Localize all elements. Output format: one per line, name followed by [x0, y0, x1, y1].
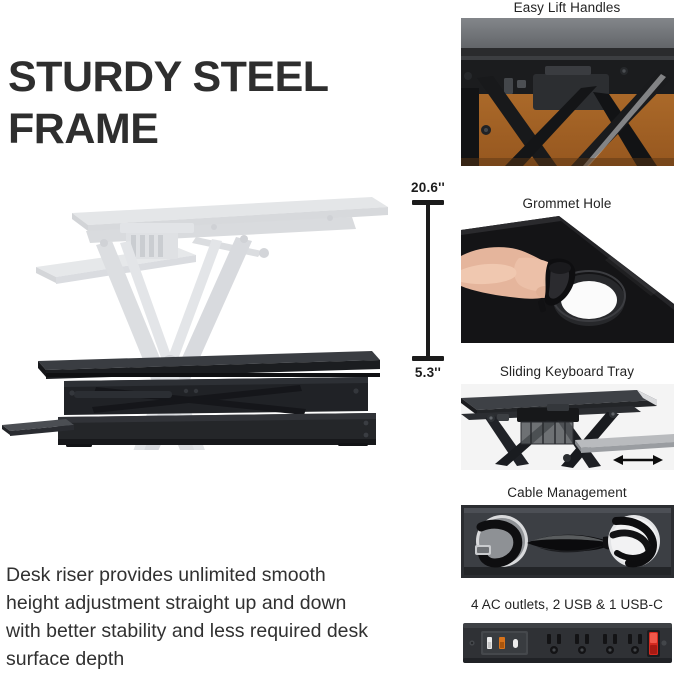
panel-caption-power-outlets: 4 AC outlets, 2 USB & 1 USB-C — [455, 597, 679, 613]
sliding-keyboard-tray-photo — [461, 384, 674, 470]
panel-caption-easy-lift-handles: Easy Lift Handles — [455, 0, 679, 16]
page-title-line-2: FRAME — [8, 105, 158, 153]
min-height-label: 5.3'' — [398, 365, 458, 380]
lowered-position-solid — [2, 351, 380, 447]
panel-caption-grommet-hole: Grommet Hole — [455, 196, 679, 212]
page-title-line-1: STURDY STEEL — [8, 53, 329, 101]
product-illustration — [0, 185, 400, 450]
height-dimension-callout: 20.6'' 5.3'' — [398, 180, 458, 390]
easy-lift-handles-photo — [461, 18, 674, 166]
cable-management-photo — [461, 505, 674, 578]
grommet-hole-photo — [461, 216, 674, 343]
dimension-line — [426, 202, 430, 359]
feature-panels-column: Easy Lift Handles — [455, 0, 679, 675]
panel-caption-cable-management: Cable Management — [455, 485, 679, 501]
body-description: Desk riser provides unlimited smooth hei… — [6, 561, 376, 673]
power-strip-photo — [461, 618, 674, 668]
page-title: STURDY STEEL FRAME — [8, 51, 448, 155]
dimension-cap-bottom — [412, 356, 444, 361]
max-height-label: 20.6'' — [398, 180, 458, 195]
panel-caption-sliding-keyboard-tray: Sliding Keyboard Tray — [455, 364, 679, 380]
left-content-column: STURDY STEEL FRAME — [0, 0, 455, 675]
